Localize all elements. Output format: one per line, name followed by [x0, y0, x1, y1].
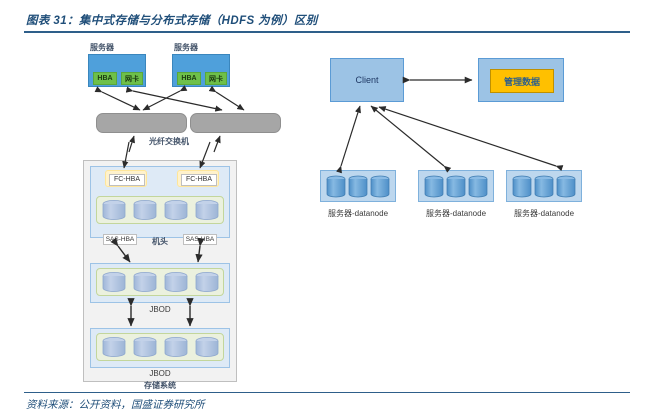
- client-box[interactable]: Client: [330, 58, 404, 102]
- management-node-box[interactable]: 管理数据: [478, 58, 564, 102]
- datanode-1-label: 服务器-datanode: [320, 208, 396, 219]
- storage-head-label: 机头: [146, 236, 174, 247]
- arrow-up-switchL: [129, 136, 134, 152]
- server-1-label: 服务器: [76, 42, 128, 53]
- server-2-chip-nic[interactable]: 网卡: [205, 72, 227, 85]
- figure-source: 资料来源：公开资料，国盛证券研究所: [26, 397, 205, 412]
- server-1-chip-hba[interactable]: HBA: [93, 72, 117, 85]
- arrow-server1-switchL: [102, 92, 140, 110]
- fibre-switch-right[interactable]: [190, 113, 281, 133]
- fc-hba-1-wrap: FC-HBA: [105, 170, 147, 187]
- jbod-1-label: JBOD: [143, 305, 177, 314]
- jbod-2-label: JBOD: [143, 369, 177, 378]
- fc-hba-2[interactable]: FC-HBA: [181, 174, 217, 186]
- arrow-datanode2-client: [371, 106, 444, 166]
- storage-system-label: 存储系统: [127, 380, 193, 391]
- jbod-2-disk-tray: [96, 333, 224, 361]
- header-rule: [24, 31, 630, 33]
- fc-hba-2-wrap: FC-HBA: [177, 170, 219, 187]
- datanode-2-label: 服务器-datanode: [418, 208, 494, 219]
- server-1-chip-nic[interactable]: 网卡: [121, 72, 143, 85]
- fibre-switch-left[interactable]: [96, 113, 187, 133]
- figure-root: 图表 31：集中式存储与分布式存储（HDFS 为例）区别 资料来源：公开资料，国…: [0, 0, 654, 419]
- server-2-label: 服务器: [160, 42, 212, 53]
- sas-hba-1[interactable]: SAS-HBA: [103, 234, 137, 245]
- arrow-datanode1-client: [341, 106, 360, 166]
- sas-hba-2[interactable]: SAS-HBA: [183, 234, 217, 245]
- server-1-box[interactable]: HBA 网卡: [88, 54, 146, 87]
- arrow-server2-switchR: [216, 92, 244, 110]
- management-data-label: 管理数据: [490, 69, 554, 93]
- arrow-datanode3-client: [379, 107, 556, 166]
- arrow-up-switchR: [214, 136, 220, 152]
- server-2-chip-hba[interactable]: HBA: [177, 72, 201, 85]
- arrow-server2-switchL: [143, 91, 180, 110]
- datanode-1-box[interactable]: [320, 170, 396, 202]
- server-2-box[interactable]: HBA 网卡: [172, 54, 230, 87]
- head-disk-tray: [96, 196, 224, 224]
- fc-hba-1[interactable]: FC-HBA: [109, 174, 145, 186]
- jbod-1-disk-tray: [96, 268, 224, 296]
- arrow-server1-switchR: [133, 91, 222, 110]
- datanode-3-box[interactable]: [506, 170, 582, 202]
- datanode-2-box[interactable]: [418, 170, 494, 202]
- datanode-3-label: 服务器-datanode: [506, 208, 582, 219]
- fibre-switch-label: 光纤交换机: [137, 136, 201, 147]
- figure-title: 图表 31：集中式存储与分布式存储（HDFS 为例）区别: [26, 12, 318, 28]
- footer-rule: [24, 392, 630, 393]
